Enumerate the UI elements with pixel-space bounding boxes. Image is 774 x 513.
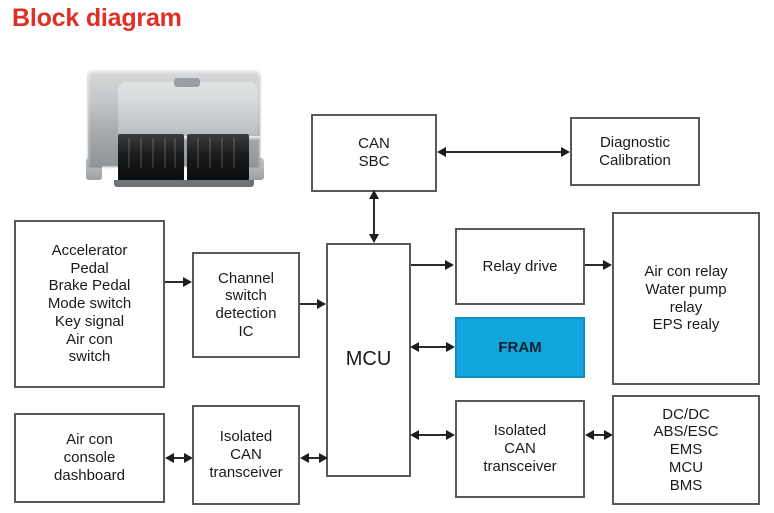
block-can-sbc-label: CANSBC	[316, 135, 432, 170]
block-vehicle-nodes[interactable]: DC/DCABS/ESCEMSMCUBMS	[612, 395, 760, 505]
block-isolated-can-transceiver-right-label: IsolatedCANtransceiver	[460, 422, 580, 475]
block-diagnostic-calibration-label: DiagnosticCalibration	[575, 134, 695, 169]
block-air-con-console-dashboard-label: Air conconsoledashboard	[19, 431, 160, 484]
ecu-connector-a	[118, 134, 184, 182]
arrowhead-inputs-channelswitch	[183, 277, 192, 287]
block-isolated-can-transceiver-left[interactable]: IsolatedCANtransceiver	[192, 405, 300, 505]
connector-inputs-channelswitch	[165, 281, 185, 283]
ecu-lid	[118, 82, 258, 136]
block-vehicle-nodes-label: DC/DCABS/ESCEMSMCUBMS	[617, 406, 755, 494]
block-relay-loads-label: Air con relayWater pumprelayEPS realy	[617, 263, 755, 334]
arrowhead-isolatedcan-left-mcu-right	[319, 453, 328, 463]
block-inputs[interactable]: AcceleratorPedalBrake PedalMode switchKe…	[14, 220, 165, 388]
block-mcu-label: MCU	[331, 348, 406, 372]
connector-mcu-isolatedcan-right	[415, 434, 449, 436]
block-relay-drive[interactable]: Relay drive	[455, 228, 585, 305]
block-can-sbc[interactable]: CANSBC	[311, 114, 437, 192]
connector-cansbc-diagnostic	[444, 151, 564, 153]
arrowhead-channelswitch-mcu	[317, 299, 326, 309]
arrowhead-mcu-isolatedcan-right-left	[410, 430, 419, 440]
connector-relaydrive-relayloads	[585, 264, 605, 266]
block-isolated-can-transceiver-right[interactable]: IsolatedCANtransceiver	[455, 400, 585, 498]
arrowhead-airconconsole-isolatedcan-left-right	[184, 453, 193, 463]
arrowhead-mcu-isolatedcan-right-right	[446, 430, 455, 440]
ecu-notch	[174, 78, 200, 87]
block-diagnostic-calibration[interactable]: DiagnosticCalibration	[570, 117, 700, 186]
block-inputs-label: AcceleratorPedalBrake PedalMode switchKe…	[19, 242, 160, 366]
block-channel-switch-detection-ic[interactable]: ChannelswitchdetectionIC	[192, 252, 300, 358]
block-relay-drive-label: Relay drive	[460, 258, 580, 276]
arrowhead-mcu-fram-left	[410, 342, 419, 352]
arrowhead-relaydrive-relayloads	[603, 260, 612, 270]
block-mcu[interactable]: MCU	[326, 243, 411, 477]
arrowhead-isolatedcan-left-mcu-left	[300, 453, 309, 463]
block-fram-label: FRAM	[460, 339, 580, 357]
block-air-con-console-dashboard[interactable]: Air conconsoledashboard	[14, 413, 165, 503]
block-fram[interactable]: FRAM	[455, 317, 585, 378]
arrowhead-mcu-cansbc-up	[369, 190, 379, 199]
ecu-connector-b	[187, 134, 249, 182]
arrowhead-isolatedcan-vehiclenodes-left	[585, 430, 594, 440]
block-relay-loads[interactable]: Air con relayWater pumprelayEPS realy	[612, 212, 760, 385]
arrowhead-cansbc-diagnostic-right	[561, 147, 570, 157]
connector-mcu-fram	[415, 346, 449, 348]
arrowhead-cansbc-diagnostic-left	[437, 147, 446, 157]
ecu-module-photo	[74, 62, 274, 197]
arrowhead-mcu-fram-right	[446, 342, 455, 352]
block-diagram-canvas: Block diagram CANSBC DiagnosticCalibrati…	[0, 0, 774, 513]
ecu-base	[114, 180, 254, 187]
connector-mcu-relaydrive	[411, 264, 447, 266]
page-title: Block diagram	[12, 4, 182, 33]
block-channel-switch-detection-ic-label: ChannelswitchdetectionIC	[197, 270, 295, 341]
arrowhead-mcu-relaydrive	[445, 260, 454, 270]
arrowhead-mcu-cansbc-down	[369, 234, 379, 243]
block-isolated-can-transceiver-left-label: IsolatedCANtransceiver	[197, 428, 295, 481]
arrowhead-isolatedcan-vehiclenodes-right	[604, 430, 613, 440]
arrowhead-airconconsole-isolatedcan-left-left	[165, 453, 174, 463]
